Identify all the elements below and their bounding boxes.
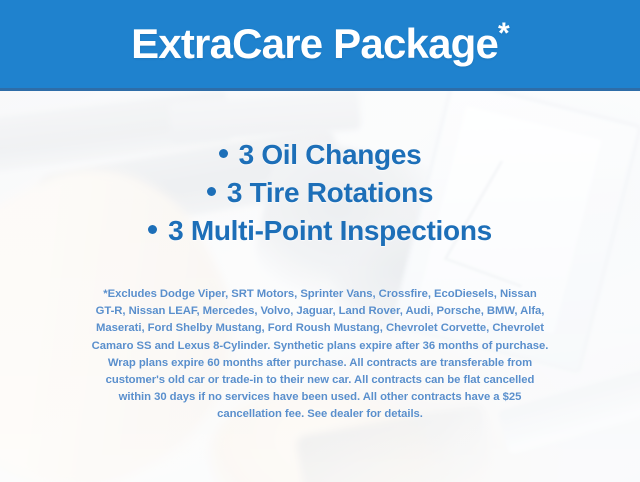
disclaimer-line: cancellation fee. See dealer for details… [26, 406, 614, 423]
disclaimer-line: customer's old car or trade-in to their … [26, 372, 614, 389]
benefit-item: 3 Multi-Point Inspections [0, 212, 640, 250]
page-title-text: ExtraCare Package [131, 20, 498, 67]
disclaimer-line: Wrap plans expire 60 months after purcha… [26, 355, 614, 372]
disclaimer-line: Camaro SS and Lexus 8-Cylinder. Syntheti… [26, 338, 614, 355]
benefit-item-label: 3 Multi-Point Inspections [168, 215, 492, 246]
bullet-dot-icon [207, 187, 216, 196]
header-banner: ExtraCare Package* [0, 0, 640, 88]
page-title: ExtraCare Package* [131, 23, 509, 65]
benefits-list: 3 Oil Changes 3 Tire Rotations 3 Multi-P… [0, 136, 640, 250]
bullet-dot-icon [219, 149, 228, 158]
extracare-package-ad: ExtraCare Package* 3 Oil Changes 3 Tire … [0, 0, 640, 482]
disclaimer-line: *Excludes Dodge Viper, SRT Motors, Sprin… [26, 286, 614, 303]
bullet-dot-icon [148, 225, 157, 234]
benefit-item: 3 Tire Rotations [0, 174, 640, 212]
benefit-item-label: 3 Oil Changes [239, 139, 422, 170]
disclaimer-line: Maserati, Ford Shelby Mustang, Ford Rous… [26, 320, 614, 337]
footnote-asterisk: * [498, 17, 509, 50]
disclaimer-line: within 30 days if no services have been … [26, 389, 614, 406]
benefit-item: 3 Oil Changes [0, 136, 640, 174]
disclaimer-text: *Excludes Dodge Viper, SRT Motors, Sprin… [26, 286, 614, 424]
benefit-item-label: 3 Tire Rotations [227, 177, 433, 208]
disclaimer-line: GT-R, Nissan LEAF, Mercedes, Volvo, Jagu… [26, 303, 614, 320]
